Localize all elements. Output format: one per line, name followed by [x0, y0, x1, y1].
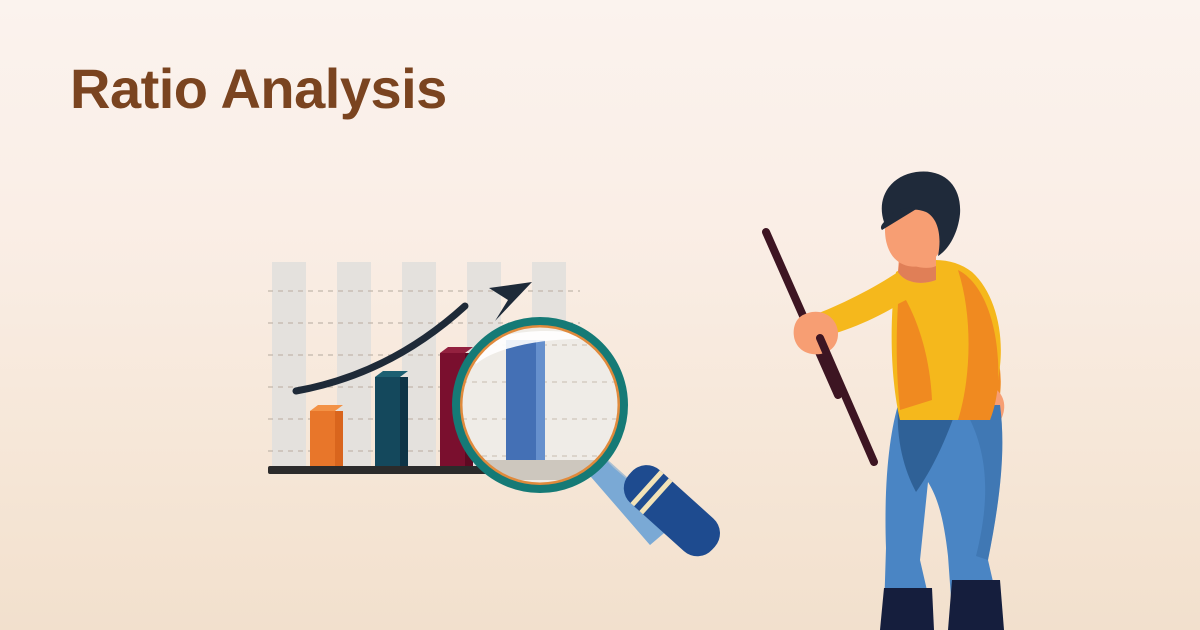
person-illustration — [0, 0, 1200, 630]
person-head — [881, 171, 960, 266]
pointer-stick-lower — [820, 338, 874, 462]
poster-canvas: Ratio Analysis — [0, 0, 1200, 630]
